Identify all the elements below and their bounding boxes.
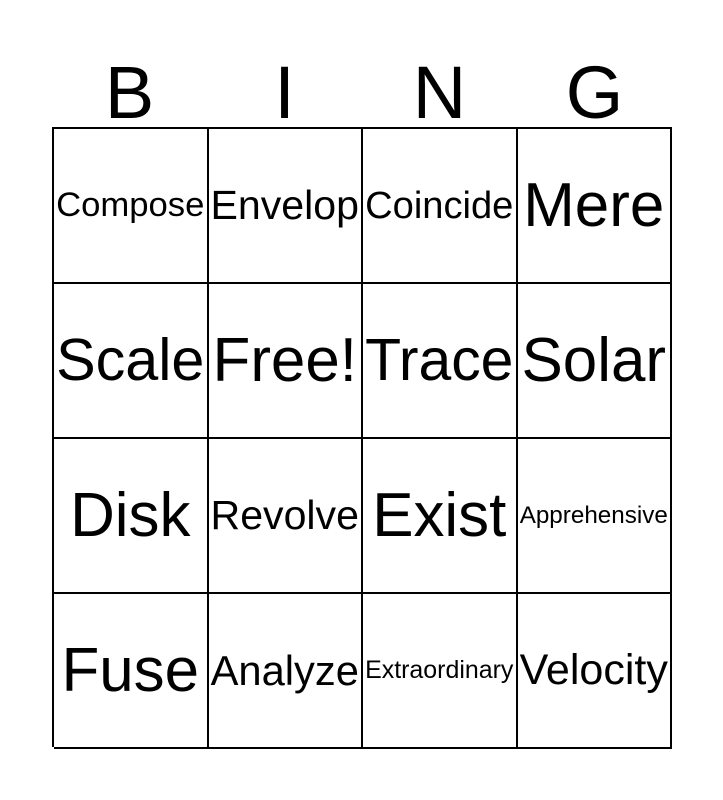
- bingo-cell-text: Trace: [364, 330, 514, 392]
- bingo-cell-text: Apprehensive: [519, 503, 669, 528]
- bingo-cell-text: Envelop: [210, 184, 360, 227]
- bingo-cell-r0c0[interactable]: Compose: [54, 129, 209, 284]
- bingo-cell-text: Analyze: [210, 649, 360, 693]
- bingo-cell-text: Fuse: [60, 638, 200, 703]
- bingo-cell-r1c2[interactable]: Trace: [363, 284, 518, 439]
- bingo-cell-text: Velocity: [519, 648, 669, 693]
- bingo-cell-text: Mere: [522, 173, 665, 238]
- header-letter-0: B: [52, 32, 207, 127]
- bingo-row: Fuse Analyze Extraordinary Velocity: [54, 594, 672, 749]
- bingo-cell-text: Compose: [55, 187, 205, 223]
- bingo-cell-r3c0[interactable]: Fuse: [54, 594, 209, 749]
- header-letter-3: G: [517, 32, 672, 127]
- bingo-row: Disk Revolve Exist Apprehensive: [54, 439, 672, 594]
- bingo-cell-r2c0[interactable]: Disk: [54, 439, 209, 594]
- bingo-cell-r0c3[interactable]: Mere: [518, 129, 673, 284]
- bingo-cell-text: Exist: [371, 483, 507, 548]
- bingo-cell-r3c2[interactable]: Extraordinary: [363, 594, 518, 749]
- bingo-header-row: B I N G: [52, 32, 672, 127]
- bingo-cell-r1c0[interactable]: Scale: [54, 284, 209, 439]
- bingo-cell-r2c1[interactable]: Revolve: [209, 439, 364, 594]
- bingo-cell-text: Free!: [212, 328, 358, 393]
- bingo-cell-text: Coincide: [364, 186, 514, 226]
- bingo-cell-text: Solar: [521, 328, 667, 393]
- bingo-cell-text: Extraordinary: [364, 657, 514, 683]
- bingo-cell-r3c1[interactable]: Analyze: [209, 594, 364, 749]
- bingo-cell-r0c1[interactable]: Envelop: [209, 129, 364, 284]
- bingo-cell-r1c3[interactable]: Solar: [518, 284, 673, 439]
- bingo-row: Compose Envelop Coincide Mere: [54, 129, 672, 284]
- bingo-grid: Compose Envelop Coincide Mere Scale Free…: [52, 127, 672, 747]
- header-letter-1: I: [207, 32, 362, 127]
- bingo-cell-r1c1-free[interactable]: Free!: [209, 284, 364, 439]
- bingo-cell-text: Disk: [69, 483, 191, 548]
- bingo-cell-r0c2[interactable]: Coincide: [363, 129, 518, 284]
- bingo-cell-r2c3[interactable]: Apprehensive: [518, 439, 673, 594]
- bingo-row: Scale Free! Trace Solar: [54, 284, 672, 439]
- bingo-cell-text: Scale: [55, 329, 205, 391]
- bingo-cell-r2c2[interactable]: Exist: [363, 439, 518, 594]
- header-letter-2: N: [362, 32, 517, 127]
- bingo-cell-text: Revolve: [210, 494, 360, 537]
- bingo-cell-r3c3[interactable]: Velocity: [518, 594, 673, 749]
- bingo-card: B I N G Compose Envelop Coincide Mere Sc…: [52, 32, 672, 747]
